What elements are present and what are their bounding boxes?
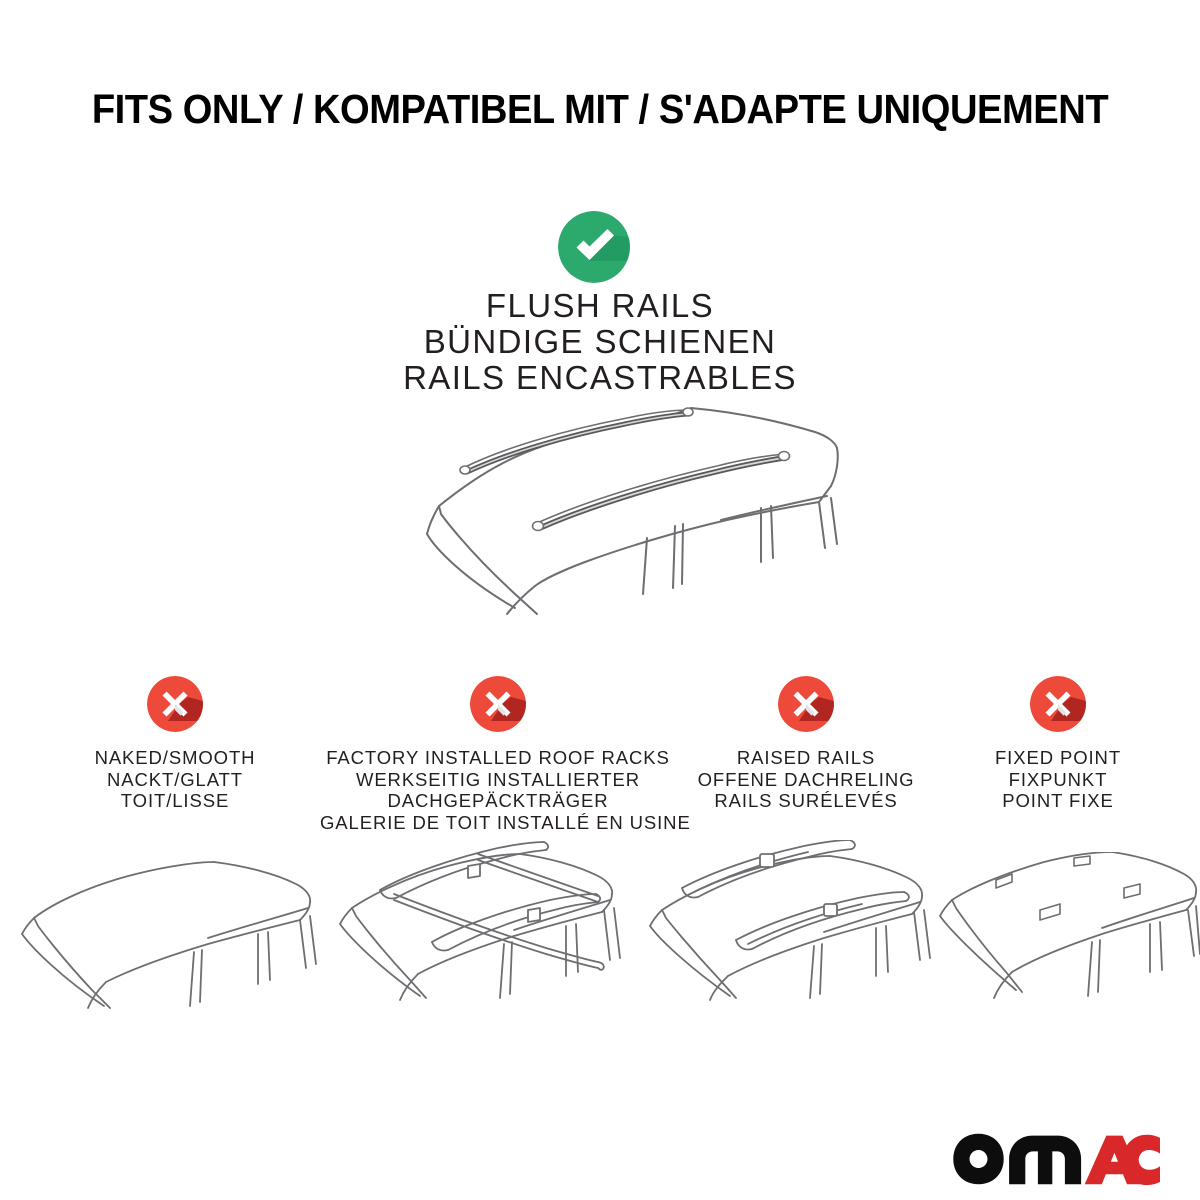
label-en: FACTORY INSTALLED ROOF RACKS bbox=[320, 747, 676, 769]
car-roof-fixed-point-illustration bbox=[938, 852, 1200, 1004]
omac-logo bbox=[950, 1132, 1160, 1186]
option-fixed-point-labels: FIXED POINT FIXPUNKT POINT FIXE bbox=[928, 747, 1188, 812]
option-raised-rails-labels: RAISED RAILS OFFENE DACHRELING RAILS SUR… bbox=[668, 747, 944, 812]
fitment-infographic: FITS ONLY / KOMPATIBEL MIT / S'ADAPTE UN… bbox=[0, 0, 1200, 1200]
compatible-label-de: BÜNDIGE SCHIENEN bbox=[0, 324, 1200, 360]
check-circle-icon bbox=[558, 211, 630, 283]
option-naked-smooth: NAKED/SMOOTH NACKT/GLATT TOIT/LISSE bbox=[40, 676, 310, 812]
label-fr: TOIT/LISSE bbox=[40, 790, 310, 812]
label-fr: RAILS SURÉLEVÉS bbox=[668, 790, 944, 812]
compatible-label-en: FLUSH RAILS bbox=[0, 288, 1200, 324]
car-roof-raised-rails-illustration bbox=[632, 840, 932, 1005]
label-de-1: WERKSEITIG INSTALLIERTER bbox=[320, 769, 676, 791]
x-circle-icon bbox=[1030, 676, 1086, 732]
option-naked-smooth-labels: NAKED/SMOOTH NACKT/GLATT TOIT/LISSE bbox=[40, 747, 310, 812]
x-circle-icon bbox=[147, 676, 203, 732]
page-title: FITS ONLY / KOMPATIBEL MIT / S'ADAPTE UN… bbox=[42, 86, 1158, 133]
label-en: NAKED/SMOOTH bbox=[40, 747, 310, 769]
label-de: FIXPUNKT bbox=[928, 769, 1188, 791]
label-de: OFFENE DACHRELING bbox=[668, 769, 944, 791]
label-en: RAISED RAILS bbox=[668, 747, 944, 769]
label-en: FIXED POINT bbox=[928, 747, 1188, 769]
compatible-label-fr: RAILS ENCASTRABLES bbox=[0, 360, 1200, 396]
label-fr: GALERIE DE TOIT INSTALLÉ EN USINE bbox=[320, 812, 676, 834]
option-raised-rails: RAISED RAILS OFFENE DACHRELING RAILS SUR… bbox=[668, 676, 944, 812]
car-roof-naked-illustration bbox=[18, 856, 318, 1016]
x-circle-icon bbox=[470, 676, 526, 732]
x-circle-icon bbox=[778, 676, 834, 732]
option-factory-roof-racks: FACTORY INSTALLED ROOF RACKS WERKSEITIG … bbox=[320, 676, 676, 833]
option-factory-roof-racks-labels: FACTORY INSTALLED ROOF RACKS WERKSEITIG … bbox=[320, 747, 676, 833]
label-de-2: DACHGEPÄCKTRÄGER bbox=[320, 790, 676, 812]
label-de: NACKT/GLATT bbox=[40, 769, 310, 791]
compatible-label-group: FLUSH RAILS BÜNDIGE SCHIENEN RAILS ENCAS… bbox=[0, 288, 1200, 396]
car-roof-flush-rails-illustration bbox=[375, 398, 845, 638]
car-roof-factory-racks-illustration bbox=[322, 838, 628, 1010]
option-fixed-point: FIXED POINT FIXPUNKT POINT FIXE bbox=[928, 676, 1188, 812]
label-fr: POINT FIXE bbox=[928, 790, 1188, 812]
